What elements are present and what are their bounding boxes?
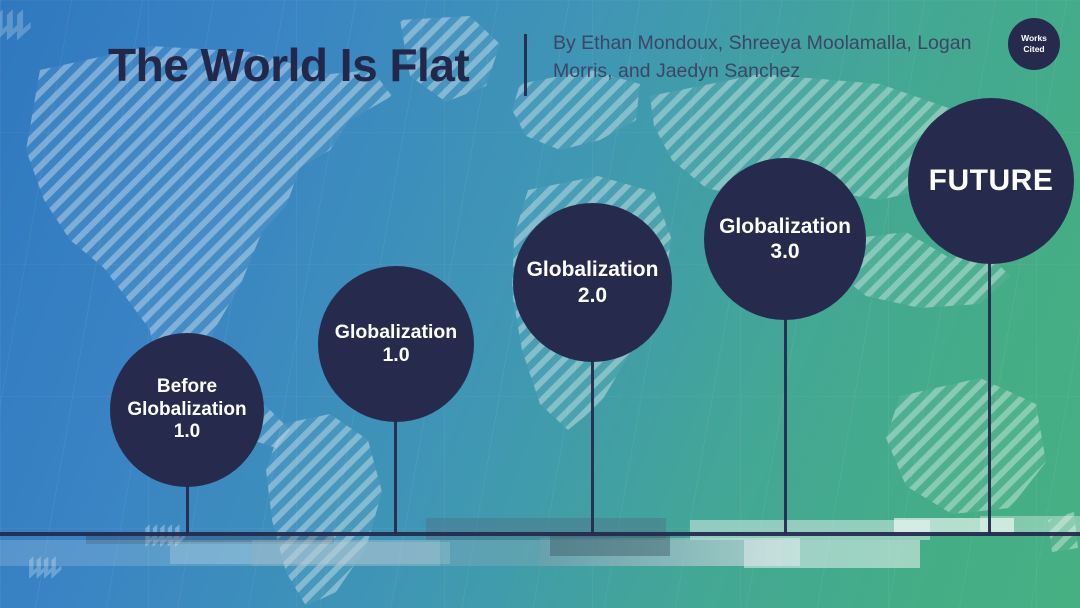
accent-bar [980,516,1080,532]
node-stem [591,355,594,534]
node-stem [186,480,189,534]
node-stem [394,414,397,534]
author-byline: By Ethan Mondoux, Shreeya Moolamalla, Lo… [553,30,973,85]
works-cited-button[interactable]: Works Cited [1008,18,1060,70]
node-bubble-label[interactable]: Before Globalization 1.0 [110,333,264,487]
node-bubble-label[interactable]: FUTURE [908,98,1074,264]
prezi-canvas: The World Is Flat By Ethan Mondoux, Shre… [0,0,1080,608]
chevron-arrows-icon [0,9,27,39]
node-bubble-label[interactable]: Globalization 1.0 [318,266,474,422]
node-bubble-label[interactable]: Globalization 3.0 [704,158,866,320]
accent-bar [550,534,670,556]
node-stem [784,312,787,534]
works-cited-label-line2: Cited [1023,44,1044,55]
node-bubble-label[interactable]: Globalization 2.0 [513,203,672,362]
title-divider [524,34,527,96]
timeline-baseline [0,532,1080,536]
page-title: The World Is Flat [108,38,469,92]
node-stem [988,255,991,534]
works-cited-label-line1: Works [1021,33,1047,44]
